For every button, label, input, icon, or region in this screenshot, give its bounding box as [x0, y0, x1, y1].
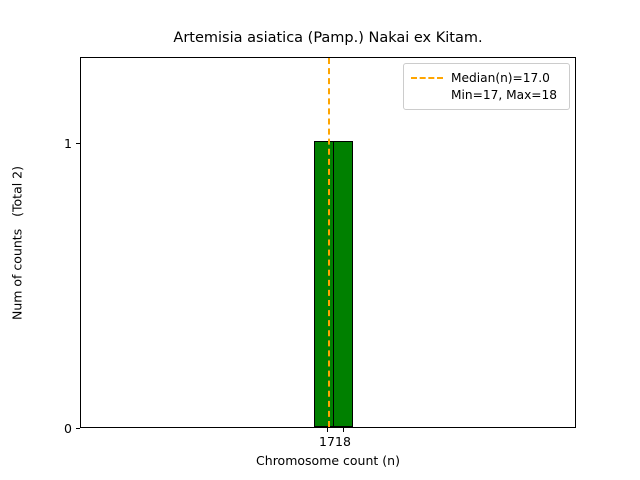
x-axis-title: Chromosome count (n): [80, 453, 576, 468]
ytick-label-1: 1: [44, 136, 72, 151]
ytick-label-0: 0: [44, 421, 72, 436]
xtick-mark-18: [343, 428, 344, 432]
legend-item-minmax: Min=17, Max=18: [411, 86, 562, 103]
legend: Median(n)=17.0 Min=17, Max=18: [403, 63, 570, 110]
matplotlib-figure: Artemisia asiatica (Pamp.) Nakai ex Kita…: [0, 0, 640, 480]
median-line: [328, 58, 330, 427]
bar-18: [333, 141, 353, 427]
bar-17: [314, 141, 334, 427]
xtick-mark-17: [327, 428, 328, 432]
dashed-line-icon: [411, 72, 443, 84]
legend-item-median: Median(n)=17.0: [411, 69, 562, 86]
plot-inner: [81, 58, 575, 427]
ytick-mark-0: [76, 428, 80, 429]
y-axis-title: Num of counts (Total 2): [10, 165, 25, 319]
chart-title: Artemisia asiatica (Pamp.) Nakai ex Kita…: [80, 29, 576, 47]
legend-label-minmax: Min=17, Max=18: [451, 88, 557, 102]
xtick-label-17: 17: [319, 434, 335, 449]
ytick-mark-1: [76, 143, 80, 144]
legend-label-median: Median(n)=17.0: [451, 71, 550, 85]
plot-area: [80, 57, 576, 428]
xtick-label-18: 18: [335, 434, 351, 449]
y-axis-title-wrap: Num of counts (Total 2): [0, 57, 34, 428]
